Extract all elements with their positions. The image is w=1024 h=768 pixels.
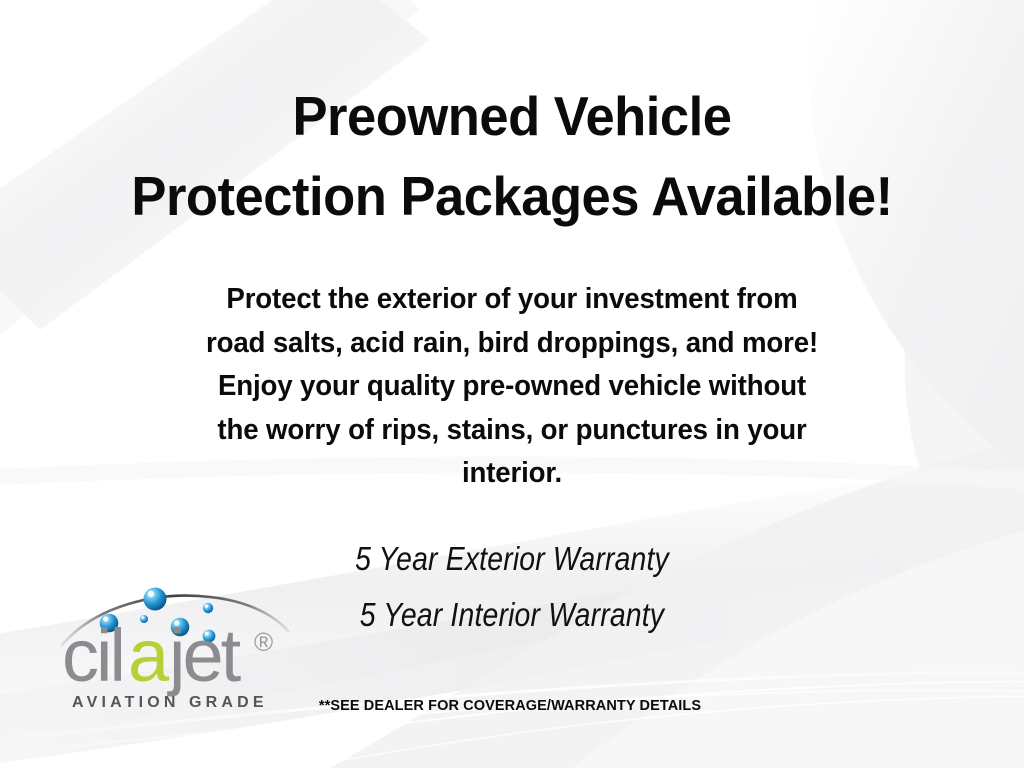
body-line-3: Enjoy your quality pre-owned vehicle wit… [15,365,1008,409]
logo-wordmark-prefix: cil [62,614,123,697]
cilajet-logo: cil a jet ® AVIATION GRADE [58,583,290,715]
body-line-2: road salts, acid rain, bird droppings, a… [15,322,1008,366]
logo-registered-mark: ® [254,627,273,657]
slide-canvas: Preowned Vehicle Protection Packages Ava… [0,0,1024,768]
logo-tagline-left: AVIATION [72,694,180,711]
logo-tagline: AVIATION GRADE [72,694,268,711]
page-title: Preowned Vehicle Protection Packages Ava… [23,76,1001,236]
warranty-exterior: 5 Year Exterior Warranty [72,531,953,587]
headline-line-2: Protection Packages Available! [23,156,1001,236]
logo-wordmark-accent: a [128,614,170,697]
headline-line-1: Preowned Vehicle [23,76,1001,156]
body-line-1: Protect the exterior of your investment … [15,278,1008,322]
logo-wordmark: cil a jet ® [62,614,273,697]
body-paragraph: Protect the exterior of your investment … [15,278,1008,496]
body-line-4: the worry of rips, stains, or punctures … [15,409,1008,453]
body-line-5: interior. [15,452,1008,496]
logo-wordmark-suffix: jet [167,614,242,697]
logo-tagline-right: GRADE [189,694,268,711]
